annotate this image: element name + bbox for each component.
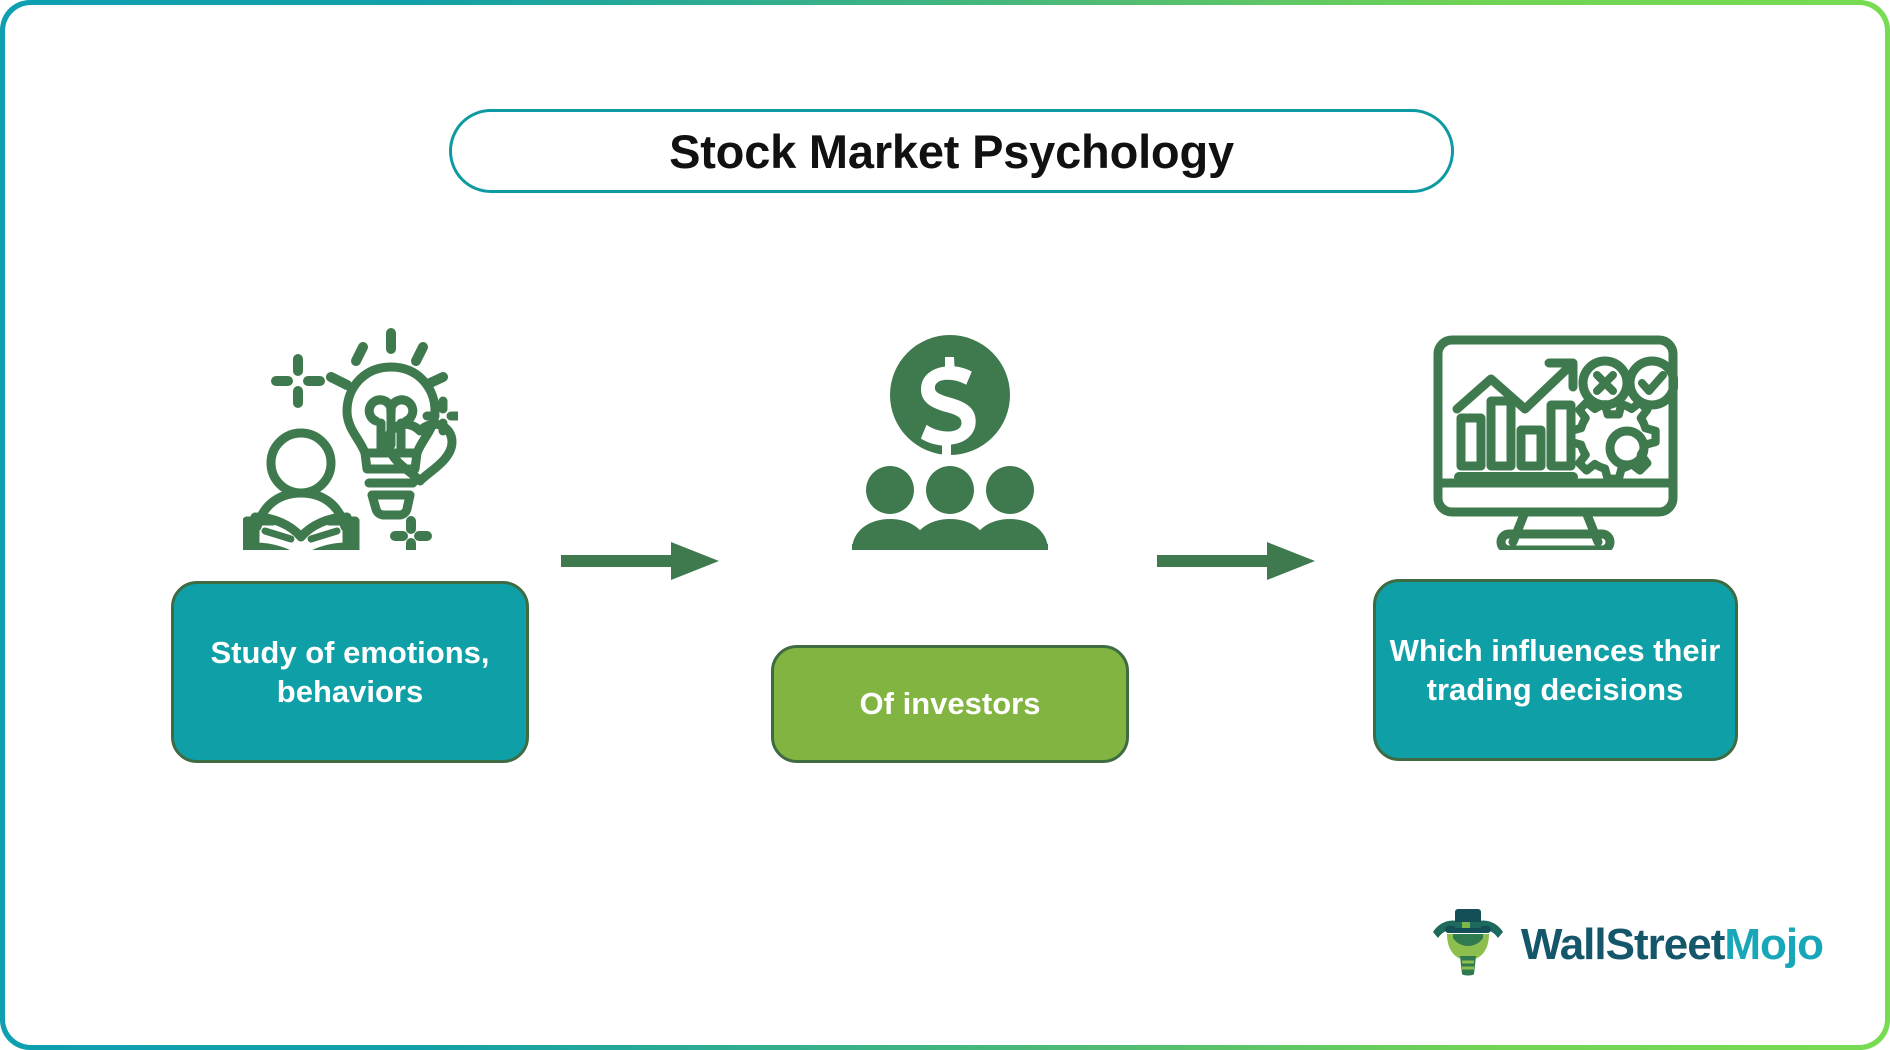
flow-step-3-label: Which influences their trading decisions xyxy=(1373,579,1738,761)
brand-name-primary: WallStreet xyxy=(1521,920,1725,969)
flow-step-3-icon-slot xyxy=(1433,290,1678,555)
flow-step-2-label: Of investors xyxy=(771,645,1129,763)
bull-mascot-tophat-logo xyxy=(1429,906,1507,983)
flow-step-2-icon-slot xyxy=(850,290,1050,555)
arrow-right-icon xyxy=(561,571,719,588)
flow-step-2: Of investors xyxy=(750,290,1150,763)
title-pill: Stock Market Psychology xyxy=(449,109,1454,193)
infographic-canvas: Stock Market Psychology xyxy=(5,5,1885,1045)
monitor-chart-gear-icon xyxy=(1433,335,1678,555)
person-reading-book-lightbulb-heart-icon xyxy=(243,325,458,555)
flow-connector-arrow-1 xyxy=(561,538,719,589)
page-title: Stock Market Psychology xyxy=(669,124,1234,179)
infographic-frame: Stock Market Psychology xyxy=(0,0,1890,1050)
brand-name-accent: Mojo xyxy=(1724,920,1823,969)
flow-step-1-label: Study of emotions, behaviors xyxy=(171,581,529,763)
flow-step-1: Study of emotions, behaviors xyxy=(150,290,550,763)
flow-step-3: Which influences their trading decisions xyxy=(1355,290,1755,761)
brand-wordmark: WallStreetMojo xyxy=(1521,920,1823,970)
brand-logo: WallStreetMojo xyxy=(1429,906,1823,983)
dollar-coin-people-group-icon xyxy=(850,335,1050,555)
flow-connector-arrow-2 xyxy=(1157,538,1315,589)
arrow-right-icon xyxy=(1157,571,1315,588)
flow-step-1-icon-slot xyxy=(243,290,458,555)
